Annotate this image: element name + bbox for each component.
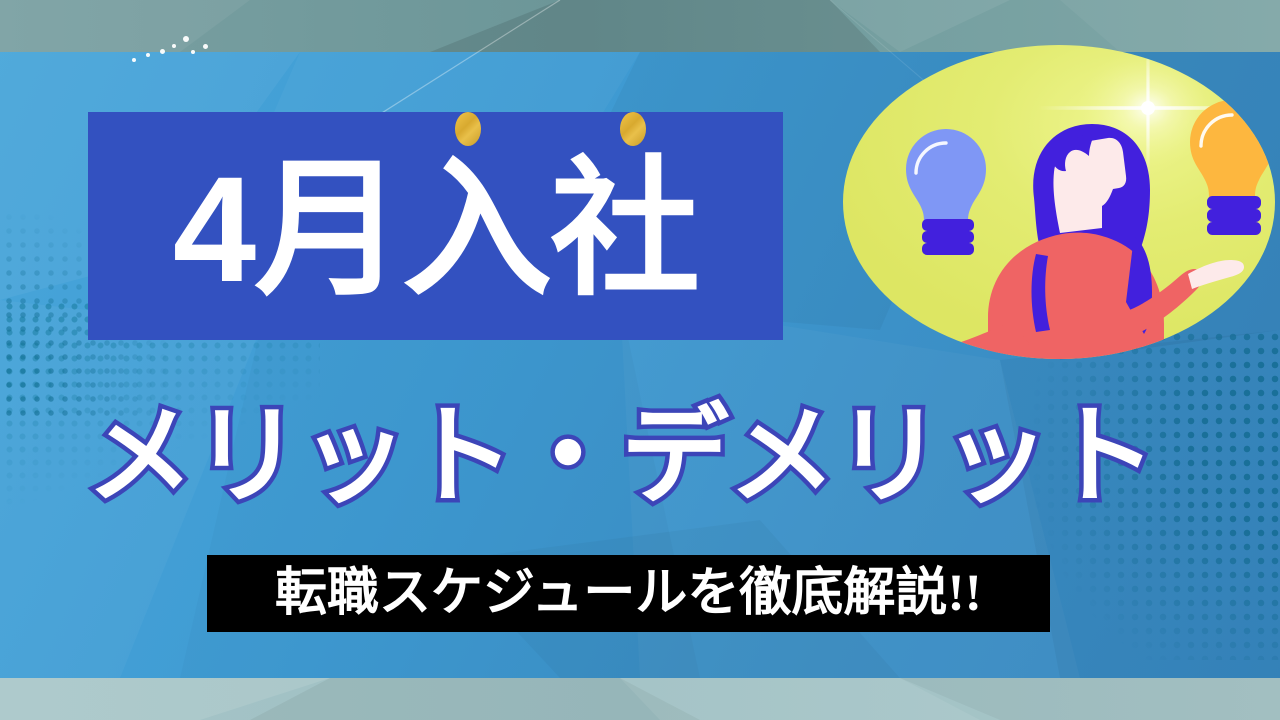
thumbnail-canvas: 4月入社 メリット・デメリット 転職スケジュールを徹底解説!! [0, 0, 1280, 720]
caption-banner-text: 転職スケジュールを徹底解説!! [275, 568, 982, 620]
title-box: 4月入社 [88, 112, 783, 340]
hero-illustration [838, 22, 1280, 382]
left-hand [879, 342, 941, 368]
gold-coin-left-icon [455, 112, 481, 146]
caption-banner: 転職スケジュールを徹底解説!! [207, 555, 1050, 632]
page-title: 4月入社 [173, 154, 698, 304]
subtitle-container: メリット・デメリット [86, 396, 1196, 516]
subtitle: メリット・デメリット [86, 402, 1156, 510]
gold-coin-right-icon [620, 112, 646, 146]
